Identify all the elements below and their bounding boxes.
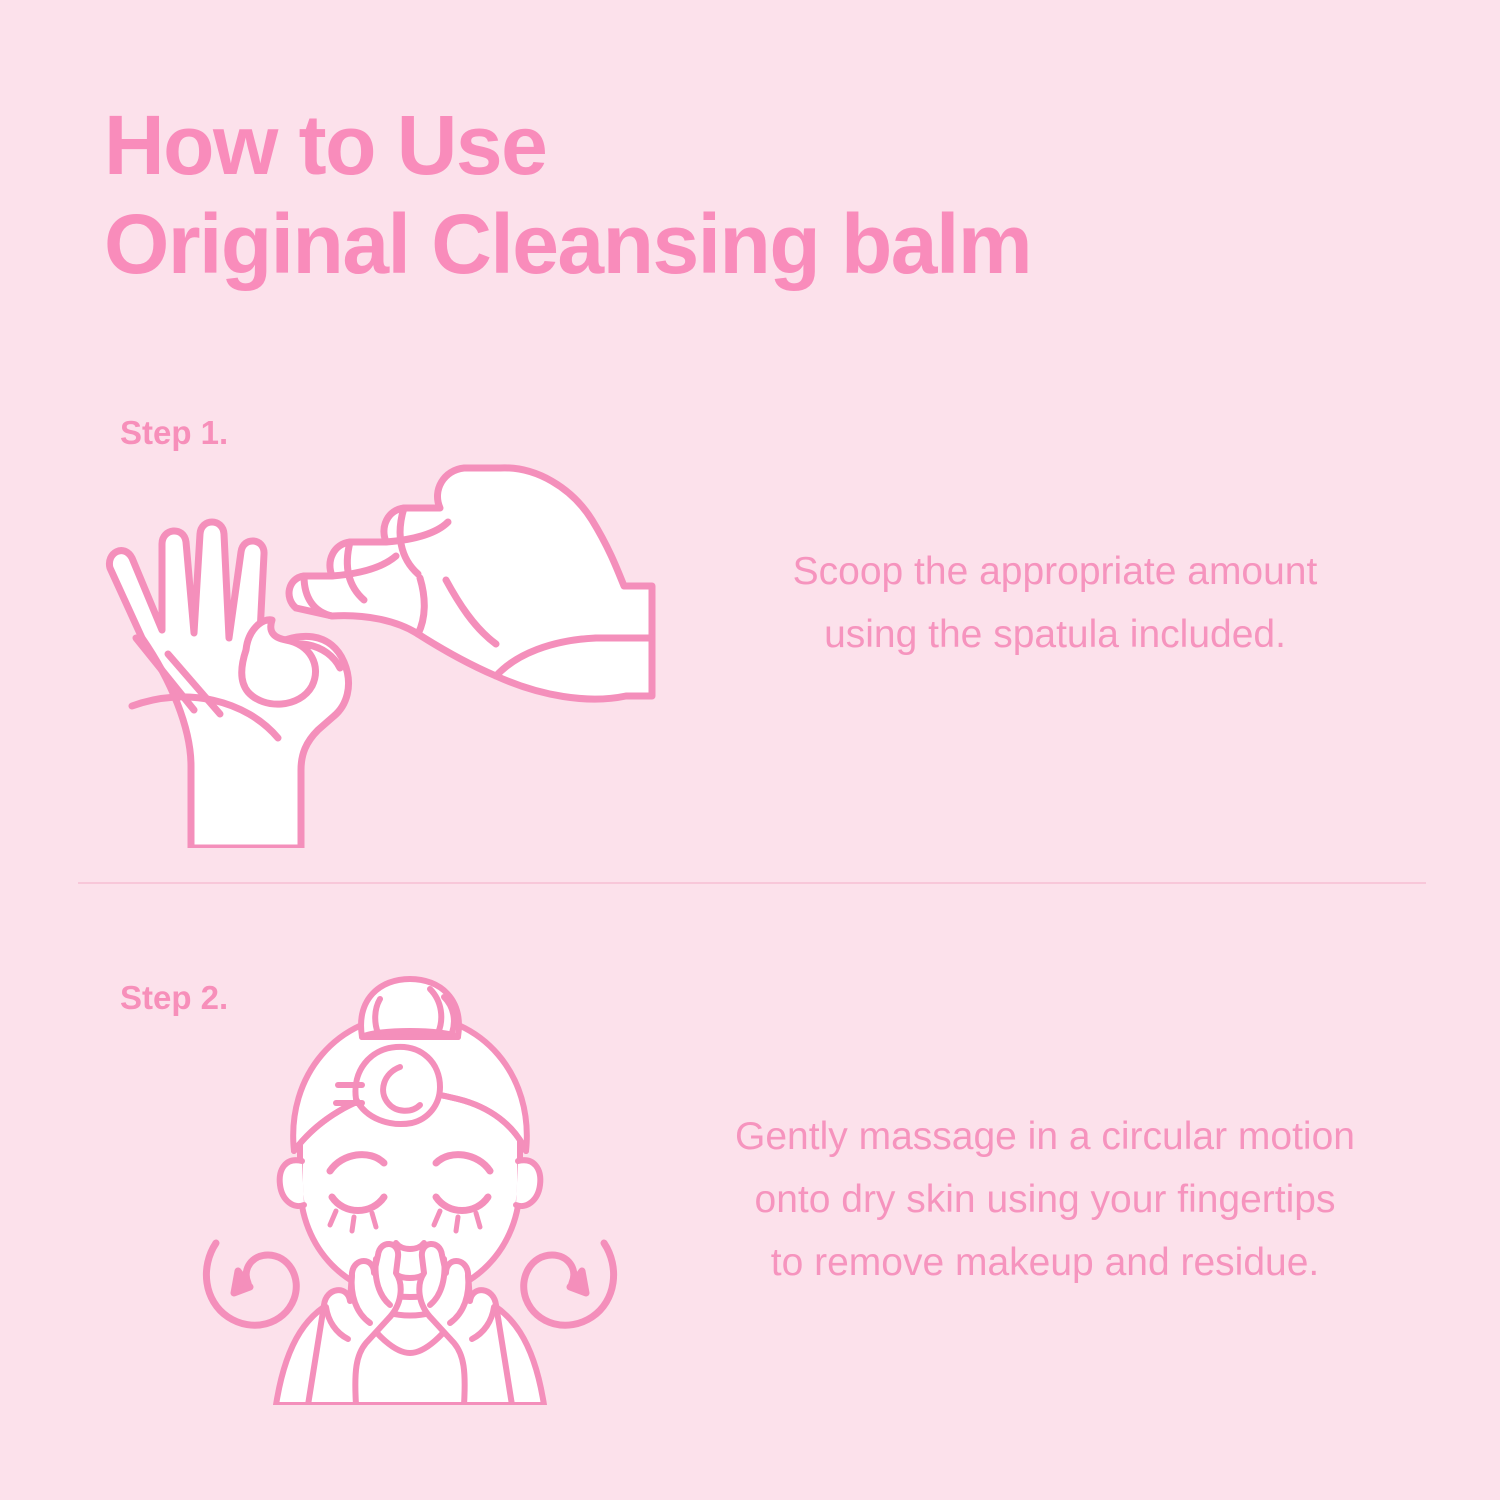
step-1-label: Step 1.: [120, 414, 228, 452]
step-2-section: Step 2.: [0, 965, 1500, 1435]
step-2-text: Gently massage in a circular motion onto…: [660, 1105, 1430, 1295]
title-line-2: Original Cleansing balm: [104, 195, 1304, 294]
right-circular-arrow: [524, 1243, 614, 1325]
step-1-text-line-1: Scoop the appropriate amount: [690, 540, 1420, 603]
page-title: How to Use Original Cleansing balm: [104, 96, 1304, 294]
step-1-section: Step 1.: [0, 400, 1500, 870]
step-2-text-line-3: to remove makeup and residue.: [660, 1231, 1430, 1294]
how-to-use-infographic: How to Use Original Cleansing balm Step …: [0, 0, 1500, 1500]
step-1-text: Scoop the appropriate amount using the s…: [690, 540, 1420, 666]
hands-scooping-balm-illustration: [96, 448, 666, 848]
step-1-text-line-2: using the spatula included.: [690, 603, 1420, 666]
section-divider: [78, 882, 1426, 884]
woman-massaging-face-illustration: [190, 975, 630, 1405]
title-line-1: How to Use: [104, 96, 1304, 195]
left-circular-arrow: [206, 1243, 296, 1325]
step-2-text-line-1: Gently massage in a circular motion: [660, 1105, 1430, 1168]
step-2-text-line-2: onto dry skin using your fingertips: [660, 1168, 1430, 1231]
